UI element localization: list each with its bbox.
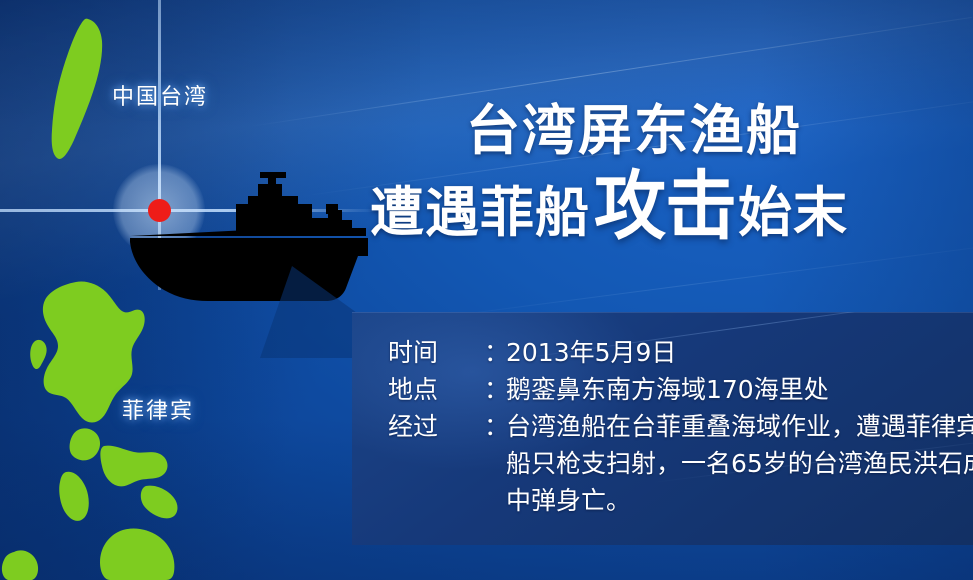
- detail-separator: ：: [484, 334, 506, 371]
- detail-value-time: 2013年5月9日: [506, 334, 676, 371]
- headline-block: 台湾屏东渔船 遭遇菲船 攻击 始末: [370, 104, 973, 242]
- detail-value-location: 鹅銮鼻东南方海域170海里处: [506, 371, 829, 408]
- island-eastern-shape: [141, 486, 178, 519]
- island-west-shape: [30, 340, 46, 369]
- taiwan-island-shape: [52, 19, 103, 159]
- detail-row-account: 经过 ： 台湾渔船在台菲重叠海域作业，遭遇菲律宾: [388, 408, 973, 445]
- detail-separator: ：: [484, 408, 506, 445]
- detail-row-time: 时间 ： 2013年5月9日: [388, 334, 973, 371]
- mindanao-island-shape: [100, 529, 174, 580]
- incident-details-list: 时间 ： 2013年5月9日 地点 ： 鹅銮鼻东南方海域170海里处 经过 ： …: [388, 334, 973, 519]
- detail-label-location: 地点: [388, 371, 484, 408]
- detail-row-location: 地点 ： 鹅銮鼻东南方海域170海里处: [388, 371, 973, 408]
- detail-value-account: 台湾渔船在台菲重叠海域作业，遭遇菲律宾: [506, 408, 973, 445]
- headline-line-2: 遭遇菲船 攻击 始末: [370, 170, 973, 242]
- detail-separator: ：: [484, 371, 506, 408]
- headline-emphasis-attack: 攻击: [594, 169, 736, 244]
- island-central-shape: [70, 428, 100, 460]
- detail-label-time: 时间: [388, 334, 484, 371]
- detail-account-continuation-2: 中弹身亡。: [388, 482, 973, 519]
- infographic-canvas: 中国台湾 菲律宾 台湾屏东渔船 遭遇菲船 攻击 始末 时间 ： 2013年5月9…: [0, 0, 973, 580]
- island-bottom-left-shape: [2, 550, 38, 580]
- detail-label-account: 经过: [388, 408, 484, 445]
- headline-line-1: 台湾屏东渔船: [370, 104, 973, 158]
- incident-info-panel: 时间 ： 2013年5月9日 地点 ： 鹅銮鼻东南方海域170海里处 经过 ： …: [352, 312, 973, 545]
- island-visayas-shape: [100, 446, 167, 487]
- detail-account-continuation-1: 船只枪支扫射，一名65岁的台湾渔民洪石成: [388, 445, 973, 482]
- headline-line2-suffix: 始末: [738, 186, 848, 240]
- map-label-philippines: 菲律宾: [122, 393, 194, 425]
- island-palawan-shape: [59, 472, 89, 521]
- headline-line2-prefix: 遭遇菲船: [370, 186, 590, 240]
- map-label-taiwan: 中国台湾: [112, 79, 208, 111]
